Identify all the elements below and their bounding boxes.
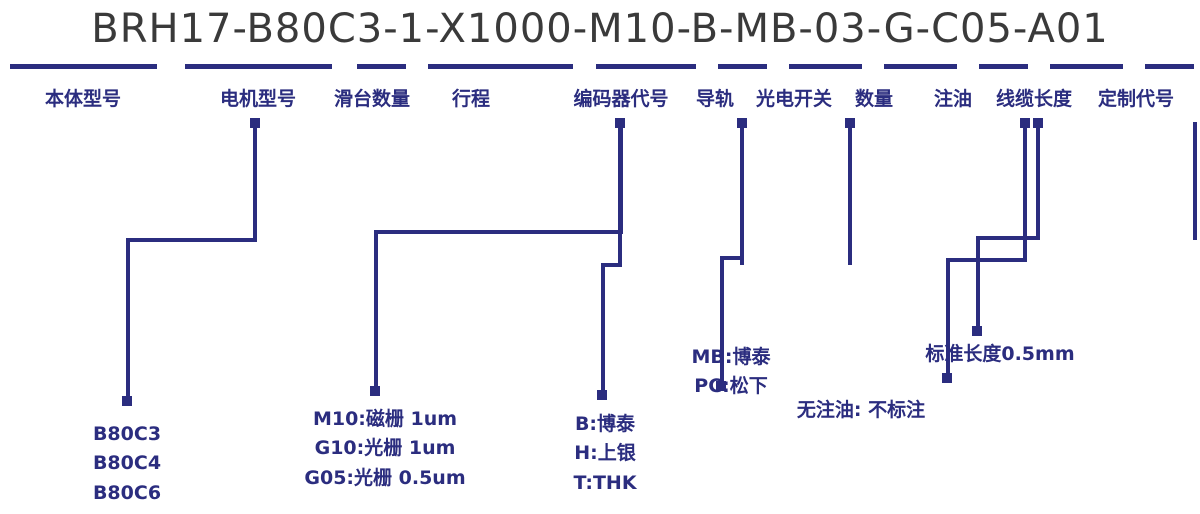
value-item: B80C3	[93, 420, 161, 449]
value-item: MB:博泰	[692, 343, 771, 372]
leader-endpoint-quantity	[942, 373, 952, 383]
leader-origin-guide-rail	[737, 118, 747, 128]
segment-label-cable-length: 线缆长度	[988, 84, 1080, 111]
segment-label-body-model: 本体型号	[33, 84, 133, 111]
segment-rule-photo-switch	[789, 64, 862, 69]
segment-label-slider-count: 滑台数量	[322, 84, 422, 111]
value-item: T:THK	[573, 469, 636, 498]
value-list-guide-rail: B:博泰 H:上银 T:THK	[573, 410, 636, 498]
value-list-cable-length: 标准长度0.5mm	[925, 340, 1074, 369]
value-list-body-model: B80C3 B80C4 B80C6	[93, 420, 161, 508]
segment-label-quantity: 数量	[846, 84, 902, 111]
value-item: B:博泰	[573, 410, 636, 439]
value-item: B80C4	[93, 449, 161, 478]
segment-rule-guide-rail	[718, 64, 767, 69]
value-list-oiling: 无注油: 不标注	[797, 396, 925, 425]
segment-label-encoder-code: 编码器代号	[559, 84, 683, 111]
segment-rule-encoder-code	[596, 64, 696, 69]
segment-rule-stroke	[428, 64, 573, 69]
leader-line-cable-length	[978, 122, 1038, 330]
segment-label-photo-switch: 光电开关	[748, 84, 840, 111]
segment-rule-oiling	[979, 64, 1028, 69]
segment-rule-slider-count	[357, 64, 406, 69]
value-item: M10:磁栅 1um	[304, 405, 465, 434]
leader-line-motor-model	[376, 122, 621, 390]
value-item: 标准长度0.5mm	[925, 340, 1074, 369]
value-item: H:上银	[573, 439, 636, 468]
segment-label-custom-code: 定制代号	[1090, 84, 1182, 111]
value-list-photo-switch: MB:博泰 PC:松下	[692, 343, 771, 402]
leader-origin-cable-length	[1033, 118, 1043, 128]
leader-origin-body-model	[250, 118, 260, 128]
leader-endpoint-encoder-code	[597, 390, 607, 400]
leader-endpoint-body-model	[122, 396, 132, 406]
segment-rule-motor-model	[185, 64, 332, 69]
segment-rule-quantity	[884, 64, 957, 69]
leader-origin-stroke	[845, 118, 855, 128]
segment-rule-body-model	[10, 64, 157, 69]
leader-origin-encoder-code	[615, 118, 625, 128]
leader-line-body-model	[128, 122, 255, 400]
leader-endpoint-motor-model	[370, 386, 380, 396]
value-item: 无注油: 不标注	[797, 396, 925, 425]
leader-origin-quantity	[1020, 118, 1030, 128]
leader-line-encoder-code	[603, 122, 620, 394]
value-item: G05:光栅 0.5um	[304, 464, 465, 493]
segment-rule-cable-length	[1050, 64, 1123, 69]
segment-label-oiling: 注油	[925, 84, 981, 111]
segment-label-guide-rail: 导轨	[687, 84, 743, 111]
segment-label-stroke: 行程	[443, 84, 499, 111]
value-item: B80C6	[93, 479, 161, 508]
segment-rule-custom-code	[1145, 64, 1194, 69]
model-number-breakdown-diagram: BRH17-B80C3-1-X1000-M10-B-MB-03-G-C05-A0…	[0, 0, 1200, 514]
segment-label-motor-model: 电机型号	[208, 84, 308, 111]
value-list-encoder-code: M10:磁栅 1um G10:光栅 1um G05:光栅 0.5um	[304, 405, 465, 493]
leader-line-quantity	[948, 122, 1025, 377]
value-item: G10:光栅 1um	[304, 434, 465, 463]
value-item: PC:松下	[692, 372, 771, 401]
model-number-title: BRH17-B80C3-1-X1000-M10-B-MB-03-G-C05-A0…	[0, 6, 1200, 52]
leader-endpoint-cable-length	[972, 326, 982, 336]
